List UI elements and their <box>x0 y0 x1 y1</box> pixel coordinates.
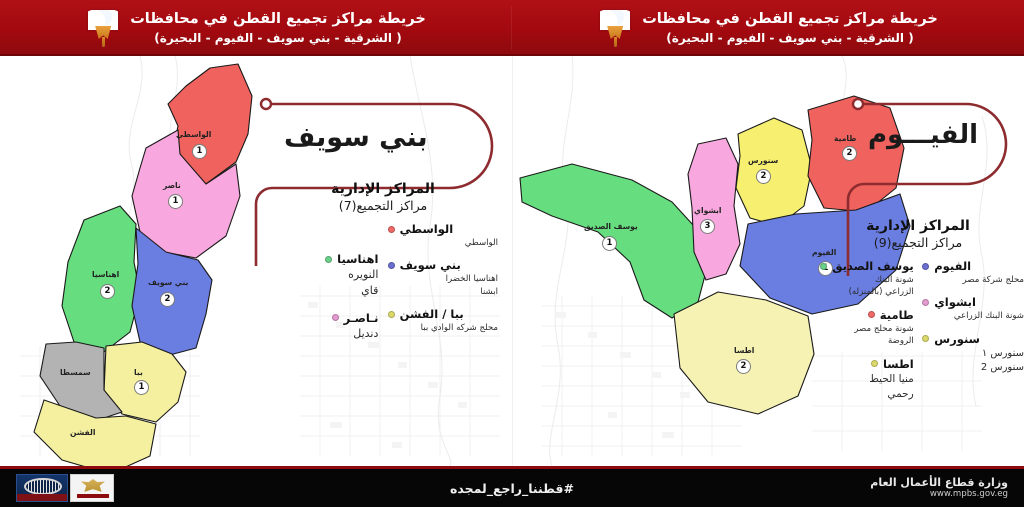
legend-item-naser[interactable]: نـاصـر دنديل <box>268 311 378 342</box>
legend-item-centers: اهناسيا الخضرا ابشنا <box>388 273 498 298</box>
legend-item-head: طامية <box>812 308 914 322</box>
legend-item-head: الواسطي <box>388 222 498 236</box>
legend-item-label: سنورس <box>934 332 980 346</box>
legend-item-centers: دنديل <box>268 326 378 342</box>
map-label-ehnasia: اهناسيا <box>92 270 119 279</box>
legend-item-label: ببا / الفشن <box>400 307 464 321</box>
map-label-elfashn: الفشن <box>70 428 95 437</box>
legend-item-label: نـاصـر <box>344 311 379 325</box>
legend-center-line: سنورس ١ <box>922 347 1024 362</box>
legend-item-head: ابشواي <box>922 295 1024 309</box>
cotton-boll-icon <box>598 8 632 48</box>
legend-item-head: الفيوم <box>922 259 1024 273</box>
legend-header-beni-suef: المراكز الإدارية مراكز التجميع(7) <box>268 181 498 213</box>
map-badge-ehnasia: 2 <box>100 284 115 299</box>
legend-center-line: شونة محلج مصر <box>812 323 914 335</box>
legend-item-head: نـاصـر <box>268 311 378 325</box>
region-ehnasia <box>62 206 140 352</box>
legend-center-line: شونة البنك <box>812 274 914 286</box>
legend-item-tamia[interactable]: طامية شونة محلج مصر الروضة <box>812 308 914 348</box>
legend-item-centers: سنورس ١ سنورس 2 <box>922 347 1024 376</box>
map-badge-benisuef: 2 <box>160 292 175 307</box>
legend-center-line: سنورس 2 <box>922 361 1024 376</box>
legend-color-dot <box>388 311 395 318</box>
legend-color-dot <box>820 263 827 270</box>
legend-color-dot <box>325 256 332 263</box>
legend-item-centers: شونة البنك الزراعي (بالمنزله) <box>812 274 914 299</box>
ministry-website[interactable]: www.mpbs.gov.eg <box>870 489 1008 499</box>
eagle-emblem-icon <box>70 474 114 502</box>
legend-item-label: اهناسيا <box>337 252 378 266</box>
legend-item-centers: منيا الحيط رحمي <box>812 372 914 402</box>
legend-center-line: قاي <box>268 283 378 299</box>
legend-item-centers: شونة البنك الزراعي <box>922 310 1024 322</box>
map-label-sinnuris: سنورس <box>748 156 778 165</box>
legend-item-label: ابشواي <box>934 295 976 309</box>
header-half-left: خريطة مراكز تجميع القطن في محافظات ( الش… <box>512 0 1024 56</box>
legend-item-ehnasia[interactable]: اهناسيا النويره قاي <box>268 252 378 299</box>
eagle-icon <box>81 479 105 493</box>
legend-item-centers: شونة محلج مصر الروضة <box>812 323 914 348</box>
legend-item-etsa[interactable]: اطسا منيا الحيط رحمي <box>812 357 914 402</box>
infographic-page: خريطة مراكز تجميع القطن في محافظات ( الش… <box>0 0 1024 507</box>
map-badge-abshway: 3 <box>700 219 715 234</box>
legend-heading: المراكز الإدارية <box>812 218 1024 234</box>
map-label-naser: ناصر <box>163 181 181 190</box>
map-badge-beba: 1 <box>134 380 149 395</box>
map-badge-naser: 1 <box>168 194 183 209</box>
legend-item-beba-fashn[interactable]: ببا / الفشن محلج شركه الوادي ببا <box>388 307 498 334</box>
map-label-youssef-seddik: يوسف الصديق <box>584 222 638 231</box>
legend-item-label: الواسطي <box>400 222 454 236</box>
emblem-strip <box>77 494 109 498</box>
legend-column-secondary-bs: اهناسيا النويره قاي نـاصـر <box>268 222 378 351</box>
legend-item-centers: النويره قاي <box>268 267 378 299</box>
legend-beni-suef: المراكز الإدارية مراكز التجميع(7) الواسط… <box>268 181 498 351</box>
legend-item-sinnuris[interactable]: سنورس سنورس ١ سنورس 2 <box>922 332 1024 376</box>
map-label-alwasty: الواسطي <box>176 130 211 139</box>
legend-center-line: اهناسيا الخضرا <box>388 273 498 285</box>
legend-item-label: طامية <box>880 308 914 322</box>
ministry-block: وزارة قطاع الأعمال العام www.mpbs.gov.eg <box>870 476 1008 500</box>
legend-item-centers: محلج شركه الوادي ببا <box>388 322 498 334</box>
legend-center-line: منيا الحيط <box>812 372 914 387</box>
governorate-title-beni-suef: بني سويف <box>284 122 428 153</box>
legend-heading: المراكز الإدارية <box>268 181 498 197</box>
legend-subheading: مراكز التجميع(9) <box>812 235 1024 250</box>
legend-color-dot <box>922 299 929 306</box>
legend-item-youssef-seddik[interactable]: يوسف الصديق شونة البنك الزراعي (بالمنزله… <box>812 259 914 299</box>
legend-item-head: بني سويف <box>388 258 498 272</box>
region-sinnuris <box>736 118 812 226</box>
map-badge-alwasty: 1 <box>192 144 207 159</box>
map-label-benisuef: بني سويف <box>148 278 188 287</box>
legend-item-head: ببا / الفشن <box>388 307 498 321</box>
legend-color-dot <box>922 263 929 270</box>
legend-color-dot <box>868 311 875 318</box>
legend-column-secondary-fy: يوسف الصديق شونة البنك الزراعي (بالمنزله… <box>812 259 914 411</box>
header-bar: خريطة مراكز تجميع القطن في محافظات ( الش… <box>0 0 1024 56</box>
legend-item-label: يوسف الصديق <box>832 259 913 273</box>
legend-column-primary-bs: الواسطي الواسطي بني سويف اهناسيا <box>388 222 498 351</box>
legend-item-centers: الواسطي <box>388 237 498 249</box>
header-half-right: خريطة مراكز تجميع القطن في محافظات ( الش… <box>0 0 512 56</box>
callout-endpoint-dot <box>853 99 863 109</box>
panel-fayoum: يوسف الصديق 1 ابشواي 3 سنورس 2 طامية 2 ا… <box>512 56 1024 466</box>
legend-item-head: يوسف الصديق <box>812 259 914 273</box>
ministry-logo <box>16 473 114 503</box>
legend-center-line: النويره <box>268 267 378 283</box>
cotton-boll-stem <box>614 37 617 47</box>
legend-item-head: اهناسيا <box>268 252 378 266</box>
map-label-abshway: ابشواي <box>694 206 722 215</box>
cotton-boll-icon-2 <box>86 8 120 48</box>
legend-columns-fayoum: الفيوم محلج شركة مصر ابشواي شونة البنك ا… <box>812 259 1024 411</box>
campaign-hashtag: #قطننا_راجع_لمجده <box>450 481 574 496</box>
legend-subheading: مراكز التجميع(7) <box>268 198 498 213</box>
legend-item-alwasty[interactable]: الواسطي الواسطي <box>388 222 498 249</box>
map-label-semasta: سمسطا <box>60 368 91 377</box>
legend-item-fayoum[interactable]: الفيوم محلج شركة مصر <box>922 259 1024 286</box>
header-title-line2-dup: ( الشرقية - بني سويف - الفيوم - البحيرة) <box>130 31 426 46</box>
maps-canvas: الواسطي 1 ناصر 1 اهناسيا 2 بني سويف 2 بب… <box>0 56 1024 466</box>
map-badge-etsa: 2 <box>736 359 751 374</box>
ministry-badge-icon <box>16 474 68 502</box>
legend-fayoum: المراكز الإدارية مراكز التجميع(9) الفيوم… <box>812 218 1024 411</box>
legend-item-label: اطسا <box>883 357 914 371</box>
governorate-title-fayoum: الفيـــوم <box>868 120 978 150</box>
legend-color-dot <box>388 226 395 233</box>
badge-bottom-bar <box>17 494 67 501</box>
legend-column-primary-fy: الفيوم محلج شركة مصر ابشواي شونة البنك ا… <box>922 259 1024 411</box>
panel-beni-suef: الواسطي 1 ناصر 1 اهناسيا 2 بني سويف 2 بب… <box>0 56 512 466</box>
map-label-etsa: اطسا <box>734 346 754 355</box>
map-badge-sinnuris: 2 <box>756 169 771 184</box>
legend-center-line: الروضة <box>812 335 914 347</box>
legend-color-dot <box>388 262 395 269</box>
legend-item-label: بني سويف <box>400 258 461 272</box>
legend-center-line: الزراعي (بالمنزله) <box>812 286 914 298</box>
legend-color-dot <box>332 314 339 321</box>
header-text-right: خريطة مراكز تجميع القطن في محافظات ( الش… <box>130 10 426 45</box>
legend-item-head: سنورس <box>922 332 1024 346</box>
legend-center-line: رحمي <box>812 387 914 402</box>
legend-columns-beni-suef: الواسطي الواسطي بني سويف اهناسيا <box>268 222 498 351</box>
header-text-left: خريطة مراكز تجميع القطن في محافظات ( الش… <box>642 10 938 45</box>
header-title-line1: خريطة مراكز تجميع القطن في محافظات <box>642 10 938 28</box>
legend-header-fayoum: المراكز الإدارية مراكز التجميع(9) <box>812 218 1024 250</box>
badge-ring-icon <box>24 478 62 495</box>
legend-item-head: اطسا <box>812 357 914 371</box>
header-title-line2: ( الشرقية - بني سويف - الفيوم - البحيرة) <box>642 31 938 46</box>
legend-item-centers: محلج شركة مصر <box>922 274 1024 286</box>
map-label-beba: ببا <box>134 368 143 377</box>
header-title-line1-dup: خريطة مراكز تجميع القطن في محافظات <box>130 10 426 28</box>
cotton-boll-stem <box>102 37 105 47</box>
legend-color-dot <box>922 335 929 342</box>
footer-bar: وزارة قطاع الأعمال العام www.mpbs.gov.eg… <box>0 466 1024 507</box>
map-badge-youssef-seddik: 1 <box>602 236 617 251</box>
legend-center-line: ابشنا <box>388 286 498 298</box>
ministry-name: وزارة قطاع الأعمال العام <box>870 476 1008 489</box>
callout-endpoint-dot <box>261 99 271 109</box>
legend-color-dot <box>871 360 878 367</box>
legend-item-label: الفيوم <box>934 259 971 273</box>
legend-item-benisuef[interactable]: بني سويف اهناسيا الخضرا ابشنا <box>388 258 498 298</box>
legend-item-abshway[interactable]: ابشواي شونة البنك الزراعي <box>922 295 1024 322</box>
